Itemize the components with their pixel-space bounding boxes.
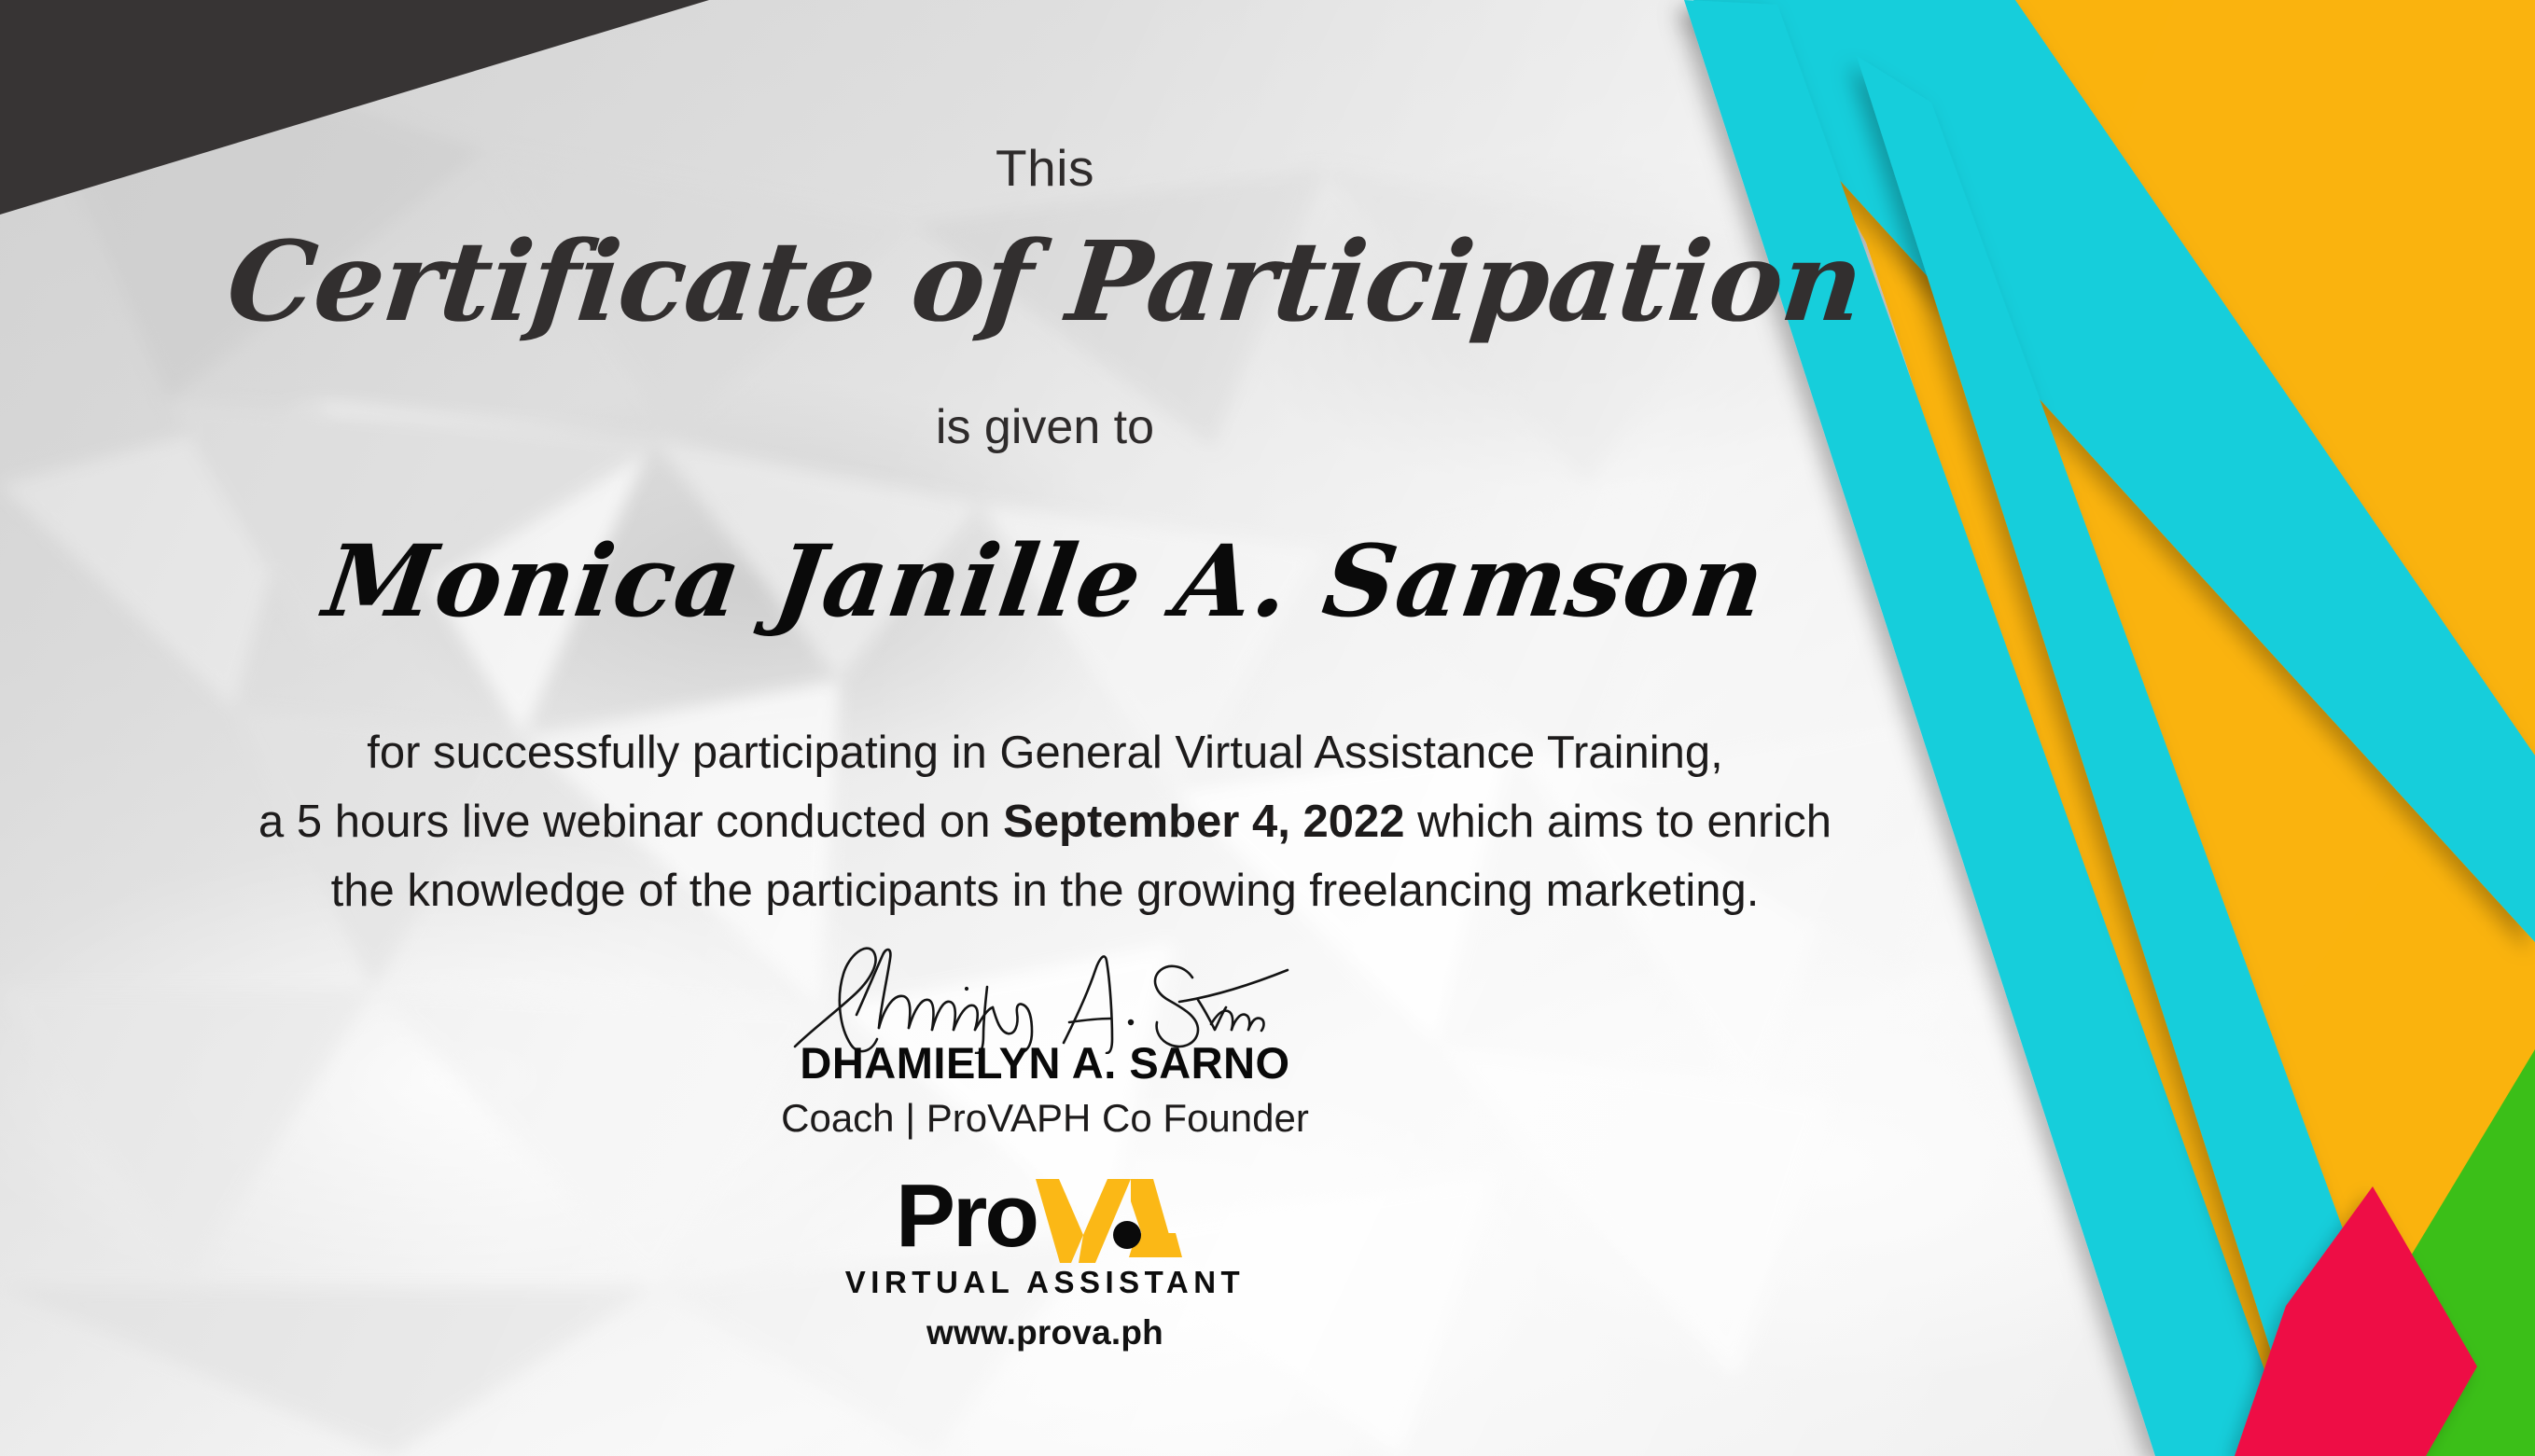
svg-text:Pro: Pro: [896, 1173, 1037, 1263]
certificate-content: This Certificate of Participation is giv…: [0, 0, 2090, 1456]
event-date: September 4, 2022: [1003, 797, 1404, 847]
signer-name: DHAMIELYN A. SARNO: [0, 1037, 2090, 1089]
body-line-2: a 5 hours live webinar conducted on Sept…: [0, 787, 2090, 856]
logo-tagline: VIRTUAL ASSISTANT: [0, 1265, 2090, 1300]
certificate-title: Certificate of Participation: [0, 216, 2096, 346]
given-to-line: is given to: [0, 399, 2090, 455]
recipient-name: Monica Janille A. Samson: [0, 522, 2098, 639]
prova-logo-icon: Pro: [896, 1173, 1194, 1263]
signature-block: DHAMIELYN A. SARNO Coach | ProVAPH Co Fo…: [0, 942, 2090, 1141]
body-line-2-prefix: a 5 hours live webinar conducted on: [258, 797, 1003, 847]
body-line-1: for successfully participating in Genera…: [0, 718, 2090, 787]
intro-line: This: [0, 138, 2090, 198]
body-line-3: the knowledge of the participants in the…: [0, 856, 2090, 925]
logo-website: www.prova.ph: [0, 1313, 2090, 1352]
signer-role: Coach | ProVAPH Co Founder: [0, 1096, 2090, 1141]
body-line-2-suffix: which aims to enrich: [1404, 797, 1832, 847]
prova-logo-block: Pro VIRTUAL ASSISTANT www.prova.ph: [0, 1173, 2090, 1352]
certificate-canvas: This Certificate of Participation is giv…: [0, 0, 2535, 1456]
body-paragraph: for successfully participating in Genera…: [0, 718, 2090, 925]
